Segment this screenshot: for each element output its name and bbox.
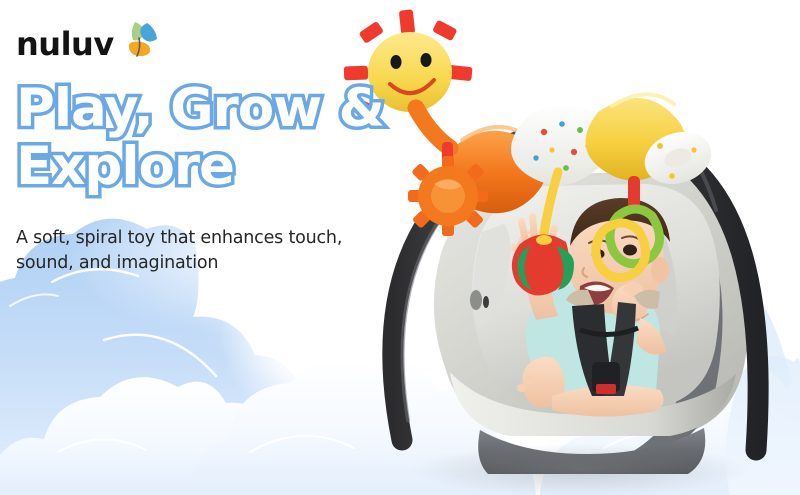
headline-line-2: Explore bbox=[16, 138, 416, 196]
promo-banner: nuluv Play, Grow & Explore A soft, spira… bbox=[0, 0, 800, 495]
brand-wordmark: nuluv bbox=[16, 28, 114, 60]
headline: Play, Grow & Explore bbox=[16, 80, 416, 196]
subtitle: A soft, spiral toy that enhances touch, … bbox=[16, 226, 416, 276]
baby-ear bbox=[651, 257, 669, 283]
headline-line-1: Play, Grow & bbox=[16, 80, 416, 138]
brand-logo[interactable]: nuluv bbox=[16, 18, 186, 66]
sun-stem bbox=[416, 108, 450, 148]
product-shadow bbox=[410, 444, 750, 495]
sun-eye-left bbox=[391, 55, 402, 69]
baby-eye-right bbox=[623, 245, 637, 256]
ball-top bbox=[536, 235, 552, 245]
subtitle-line-2: sound, and imagination bbox=[16, 251, 416, 276]
subtitle-line-1: A soft, spiral toy that enhances touch, bbox=[16, 226, 416, 251]
belt-slot-left bbox=[470, 290, 482, 310]
sun-eye-right bbox=[421, 53, 432, 67]
harness-buckle-button bbox=[596, 384, 616, 394]
belt-slot-left-inner bbox=[483, 296, 489, 308]
butterfly-icon bbox=[117, 18, 163, 60]
